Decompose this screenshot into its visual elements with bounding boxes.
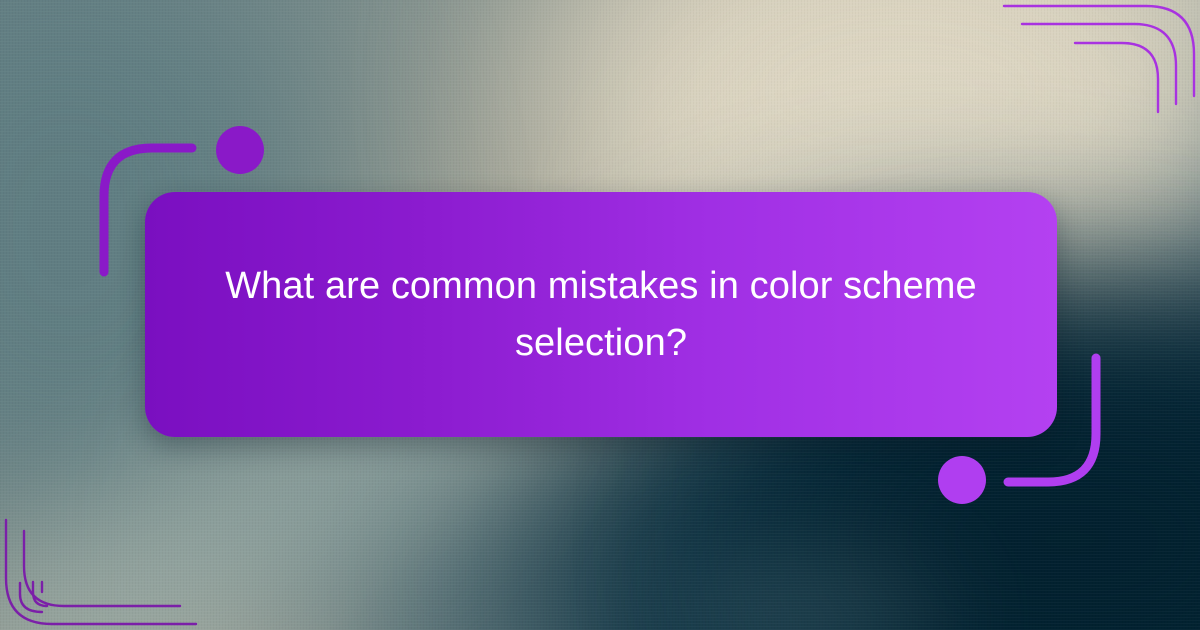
social-card-canvas: What are common mistakes in color scheme… — [0, 0, 1200, 630]
card-question-text: What are common mistakes in color scheme… — [221, 258, 981, 370]
question-card: What are common mistakes in color scheme… — [145, 192, 1057, 437]
